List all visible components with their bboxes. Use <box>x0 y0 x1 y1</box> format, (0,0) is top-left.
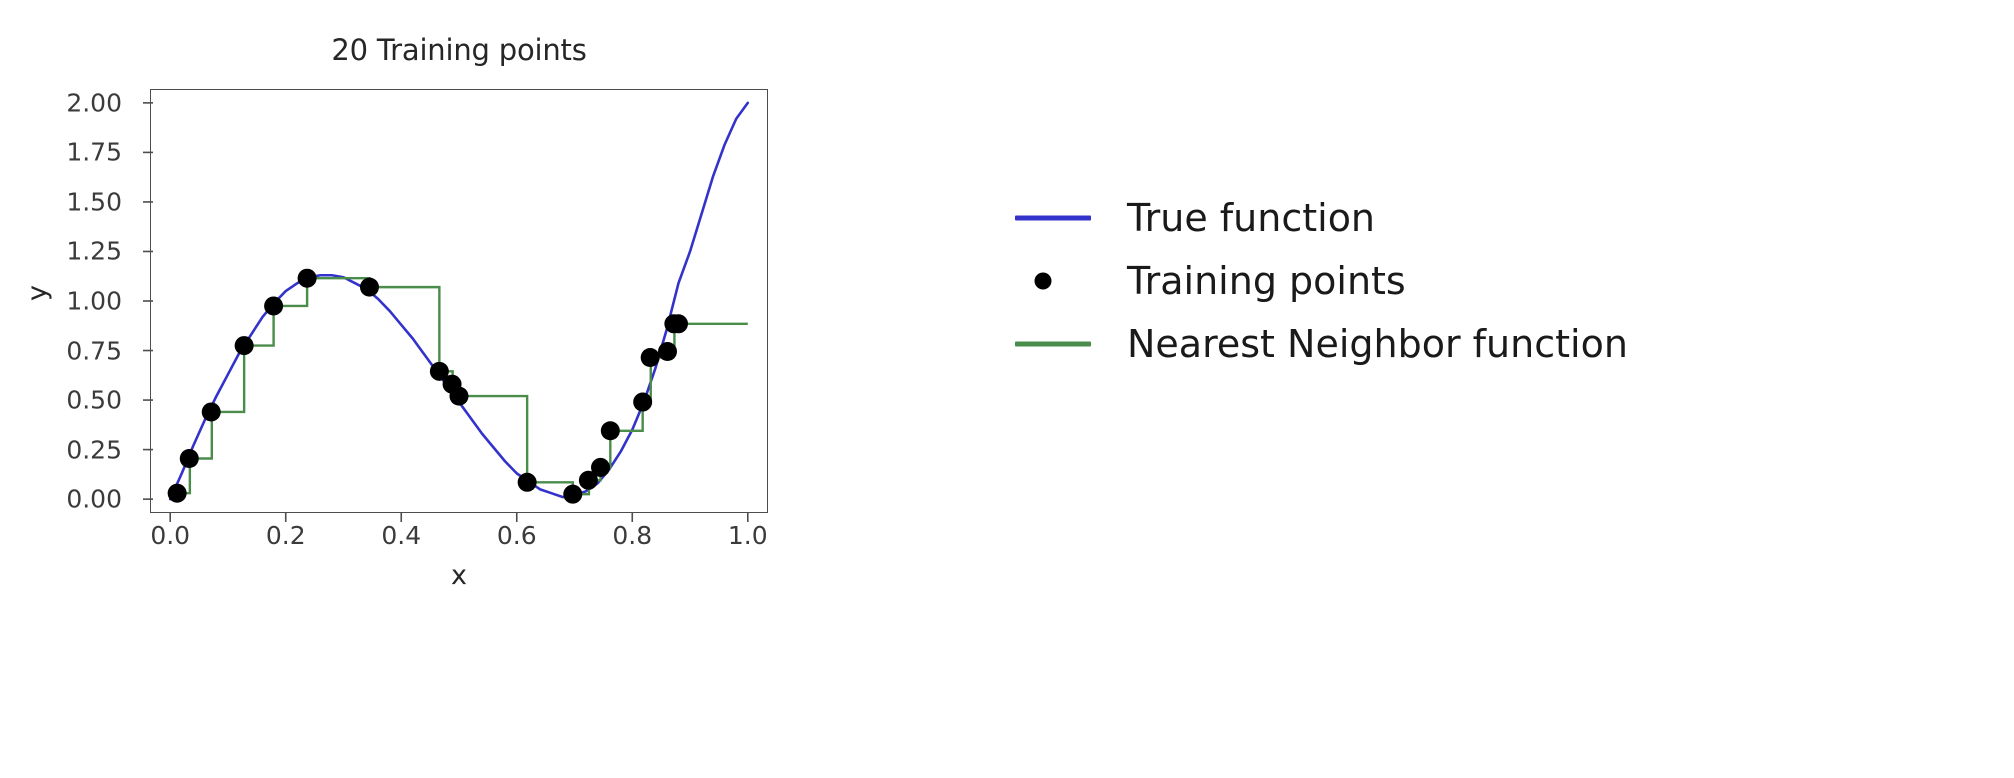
training-point <box>180 449 199 468</box>
training-point <box>633 393 652 412</box>
legend-label: Training points <box>1127 262 1406 300</box>
legend-item-training-points[interactable]: Training points <box>1005 249 2005 312</box>
training-point <box>298 269 317 288</box>
legend-label: Nearest Neighbor function <box>1127 325 1628 363</box>
training-point <box>360 278 379 297</box>
training-point <box>601 421 620 440</box>
true-function-series <box>170 103 748 499</box>
training-point <box>168 484 187 503</box>
y-axis-ticks: 0.00 0.25 0.50 0.75 1.00 1.25 1.50 1.75 … <box>26 89 134 513</box>
training-point-dot-swatch <box>1035 272 1052 289</box>
legend-key-line <box>1005 197 1101 239</box>
training-point <box>658 342 677 361</box>
chart-legend: True function Training points Nearest Ne… <box>1005 186 2005 375</box>
y-tick-label: 1.50 <box>22 187 122 216</box>
x-tick-marks <box>145 513 773 531</box>
y-tick-label: 0.50 <box>22 386 122 415</box>
training-point <box>518 473 537 492</box>
training-point <box>450 387 469 406</box>
chart-title: 20 Training points <box>150 33 768 67</box>
training-point <box>202 402 221 421</box>
training-point <box>591 458 610 477</box>
y-tick-marks <box>130 84 154 518</box>
figure-canvas: 20 Training points 0.00 0.25 0.50 0.75 1… <box>0 0 2014 778</box>
y-tick-label: 1.25 <box>22 237 122 266</box>
y-tick-label: 0.25 <box>22 435 122 464</box>
plot-area <box>150 89 768 513</box>
legend-item-nearest-neighbor-function[interactable]: Nearest Neighbor function <box>1005 312 2005 375</box>
true-function-line <box>170 103 748 499</box>
training-point <box>235 336 254 355</box>
y-axis-title: y <box>22 285 53 301</box>
legend-item-true-function[interactable]: True function <box>1005 186 2005 249</box>
x-axis-title: x <box>150 560 768 591</box>
y-tick-label: 2.00 <box>22 88 122 117</box>
legend-label: True function <box>1127 199 1375 237</box>
nearest-neighbor-line-swatch <box>1015 341 1091 346</box>
training-point <box>641 348 660 367</box>
true-function-line-swatch <box>1015 215 1091 220</box>
legend-key-marker <box>1005 260 1101 302</box>
training-points-series <box>168 269 688 504</box>
y-tick-label: 0.00 <box>22 485 122 514</box>
training-point <box>264 296 283 315</box>
y-tick-label: 0.75 <box>22 336 122 365</box>
y-tick-label: 1.75 <box>22 138 122 167</box>
training-point <box>669 314 688 333</box>
training-point <box>563 485 582 504</box>
legend-key-line <box>1005 323 1101 365</box>
